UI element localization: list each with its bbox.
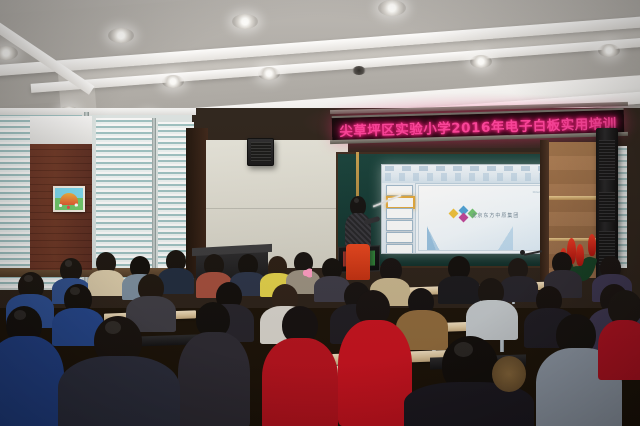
downlight-icon bbox=[258, 67, 280, 80]
hair-bow-accessory bbox=[300, 268, 312, 278]
slide-thumbnail[interactable] bbox=[386, 220, 413, 231]
panel-top-blind bbox=[30, 116, 92, 144]
audience-body bbox=[262, 338, 338, 426]
slide-thumbnail[interactable] bbox=[386, 232, 413, 243]
downlight-icon bbox=[378, 0, 406, 16]
audience-body bbox=[58, 356, 180, 426]
projection-screen[interactable]: 北京东方中原集团 Oriental bbox=[381, 164, 555, 254]
audience-body bbox=[500, 276, 538, 302]
audience-body bbox=[338, 320, 412, 426]
audience-body bbox=[0, 336, 64, 426]
slide-title-text: 北京东方中原集团 bbox=[471, 212, 519, 219]
downlight-icon bbox=[598, 44, 620, 57]
ribbon-buttons[interactable] bbox=[385, 173, 550, 181]
audience-body bbox=[598, 320, 640, 380]
blind-headrail bbox=[0, 108, 196, 115]
downlight-icon bbox=[108, 28, 134, 43]
audience-body bbox=[438, 276, 480, 304]
children-artwork-poster bbox=[53, 186, 85, 212]
ribbon-tabs[interactable] bbox=[385, 166, 550, 171]
presenter bbox=[342, 196, 376, 280]
wall-speaker bbox=[247, 138, 274, 166]
ceiling bbox=[0, 0, 640, 118]
presenter-trousers bbox=[346, 244, 370, 280]
audience-body bbox=[466, 300, 518, 340]
downlight-icon bbox=[232, 14, 258, 29]
slide-thumbnail[interactable] bbox=[386, 244, 413, 254]
front-wall-seam bbox=[206, 208, 348, 209]
fur-hood bbox=[492, 356, 526, 392]
slide-thumbnail[interactable] bbox=[386, 208, 413, 219]
microphone-head-icon bbox=[520, 250, 525, 255]
slide-thumbnail-panel[interactable] bbox=[382, 183, 416, 253]
downlight-icon bbox=[162, 75, 184, 88]
window-mullion bbox=[152, 118, 156, 288]
active-slide[interactable]: 北京东方中原集团 Oriental bbox=[418, 185, 551, 250]
red-flower-accent bbox=[588, 234, 596, 256]
ceiling-vent-icon bbox=[352, 66, 366, 75]
lecture-hall-photo: 北京东方中原集团 Oriental 尖草坪区实验小学2016年电子白板实用培训 bbox=[0, 0, 640, 426]
audience-body bbox=[88, 270, 124, 296]
downlight-icon bbox=[470, 55, 492, 68]
slide-decorative-shapes bbox=[427, 217, 513, 250]
audience-body bbox=[178, 332, 250, 426]
door-frame bbox=[540, 140, 549, 280]
powerpoint-ribbon[interactable] bbox=[382, 165, 554, 184]
